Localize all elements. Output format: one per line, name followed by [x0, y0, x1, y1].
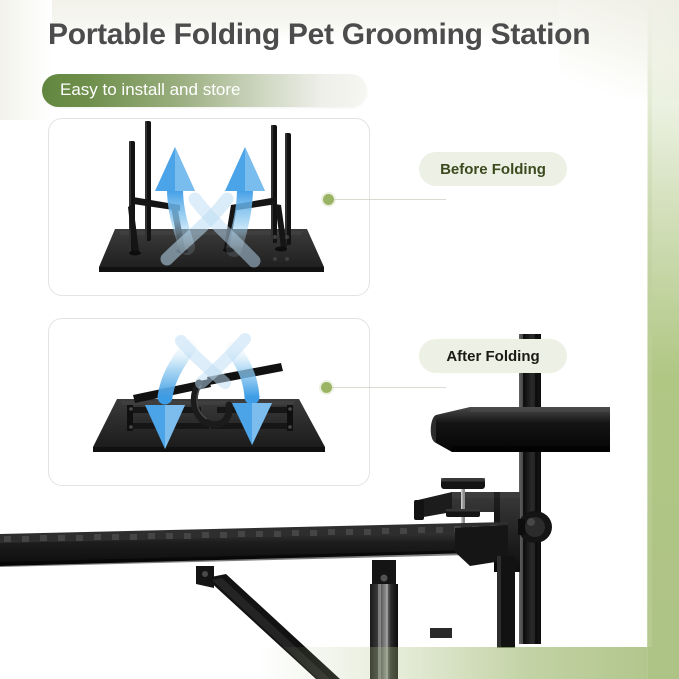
table-leg-right-fragment	[497, 556, 515, 648]
feature-badge: Easy to install and store	[42, 74, 367, 107]
connector-line-before	[334, 199, 446, 200]
grooming-arm-bar	[431, 407, 610, 452]
label-after-folding: After Folding	[419, 339, 567, 373]
unfolded-table-drawing	[49, 119, 369, 295]
panel-before-illustration	[49, 119, 369, 295]
folded-table-drawing	[49, 319, 369, 485]
bottom-green-band	[0, 647, 679, 679]
grooming-arm-post	[519, 334, 541, 644]
clamp-thumb-screw	[441, 478, 485, 544]
page-title: Portable Folding Pet Grooming Station	[48, 18, 648, 52]
panel-after-folding	[48, 318, 370, 486]
clamp-side-knob	[518, 511, 552, 543]
feature-badge-text: Easy to install and store	[60, 80, 240, 100]
label-before-folding: Before Folding	[419, 152, 567, 186]
right-green-band-inner	[647, 0, 652, 679]
connector-dot-after	[321, 382, 332, 393]
panel-after-illustration	[49, 319, 369, 485]
clamp-bracket	[414, 492, 520, 572]
label-before-folding-text: Before Folding	[440, 161, 546, 178]
table-top	[0, 522, 508, 567]
left-background-wash	[0, 0, 52, 120]
label-after-folding-text: After Folding	[446, 348, 539, 365]
bottom-right-green-corner	[648, 647, 679, 679]
right-green-band	[648, 0, 679, 679]
leg-foot-tab	[430, 628, 452, 638]
product-infographic: Before Folding After Folding Portable Fo…	[0, 0, 679, 679]
connector-line-after	[332, 387, 446, 388]
connector-dot-before	[323, 194, 334, 205]
panel-before-folding	[48, 118, 370, 296]
